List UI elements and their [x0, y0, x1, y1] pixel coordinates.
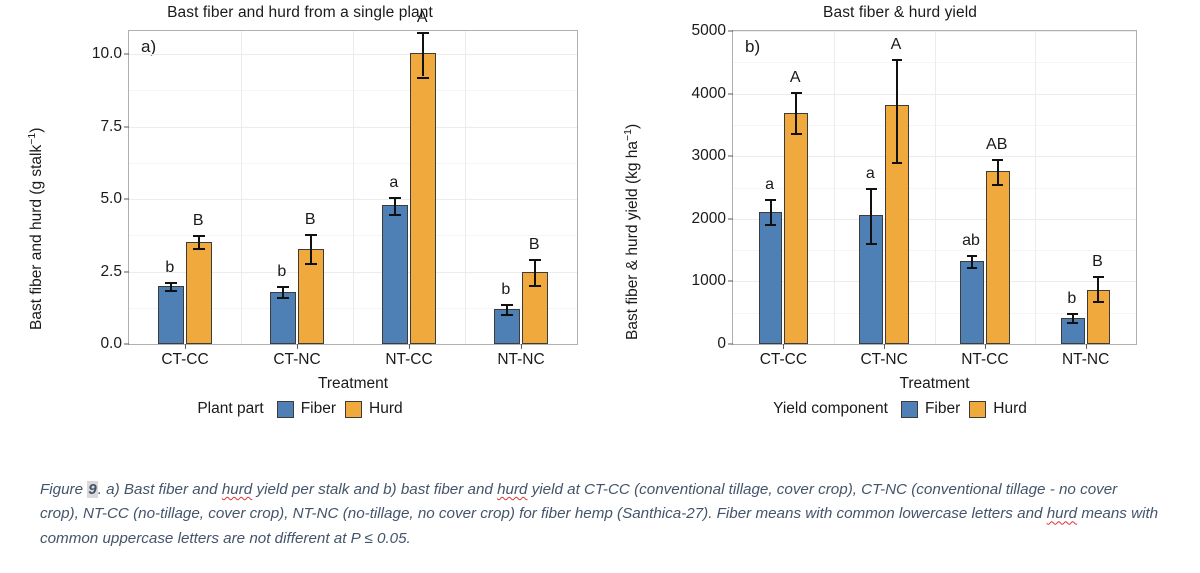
error-bar-cap-bottom: [529, 285, 541, 287]
caption-figure-word: Figure: [40, 481, 87, 498]
error-bar-cap-bottom: [967, 267, 978, 269]
significance-letter-nt-nc-fiber: b: [501, 281, 510, 299]
error-bar-cap-bottom: [193, 248, 205, 250]
significance-letter-nt-nc-hurd: B: [1092, 253, 1103, 271]
chart-title-a: Bast fiber and hurd from a single plant: [0, 4, 600, 22]
bar-ct-nc-fiber: [270, 292, 296, 344]
error-bar-cap-bottom: [277, 297, 289, 299]
x-axis-tick-mark: [185, 344, 186, 349]
caption-part1: . a) Bast fiber and: [98, 481, 222, 498]
x-axis-tick-mark: [783, 344, 784, 349]
error-bar-cap-top: [791, 92, 802, 94]
error-bar-cap-bottom: [305, 263, 317, 265]
error-bar-cap-top: [529, 259, 541, 261]
legend-label-fiber-b: Fiber: [925, 400, 960, 418]
significance-letter-ct-nc-hurd: A: [891, 36, 902, 54]
y-axis-tick-b: 3000: [692, 147, 733, 165]
vertical-gridline: [353, 31, 354, 344]
significance-letter-ct-cc-fiber: b: [165, 259, 174, 277]
legend-swatch-fiber-b: [901, 401, 918, 418]
error-bar-cap-top: [305, 234, 317, 236]
significance-letter-nt-cc-hurd: AB: [986, 136, 1007, 154]
x-axis-label-a: Treatment: [128, 375, 578, 393]
vertical-gridline: [1035, 31, 1036, 344]
legend-a: Plant part Fiber Hurd: [0, 400, 600, 418]
legend-title-a: Plant part: [197, 400, 263, 418]
error-bar-cap-bottom: [791, 133, 802, 135]
vertical-gridline: [241, 31, 242, 344]
legend-item-fiber-a[interactable]: Fiber: [277, 400, 336, 418]
error-bar-cap-bottom: [866, 243, 877, 245]
y-axis-label-a-sup: −1: [26, 133, 38, 145]
x-axis-label-b: Treatment: [732, 375, 1137, 393]
error-bar-cap-top: [165, 282, 177, 284]
significance-letter-nt-cc-fiber: ab: [962, 232, 980, 250]
significance-letter-nt-cc-hurd: A: [417, 9, 428, 27]
legend-swatch-hurd-a: [345, 401, 362, 418]
bar-nt-cc-fiber: [960, 261, 984, 344]
legend-b: Yield component Fiber Hurd: [600, 400, 1200, 418]
error-bar-cap-bottom: [765, 224, 776, 226]
error-bar-cap-top: [765, 199, 776, 201]
error-bar-line: [422, 32, 424, 76]
legend-title-b: Yield component: [773, 400, 888, 418]
caption-misspelled-hurd-1: hurd: [222, 481, 252, 498]
y-axis-tick-b: 1000: [692, 272, 733, 290]
significance-letter-nt-cc-fiber: a: [389, 174, 398, 192]
y-axis-label-b-text: Bast fiber & hurd yield (kg ha: [624, 141, 641, 340]
bar-ct-cc-hurd: [784, 113, 808, 344]
error-bar-cap-bottom: [1093, 301, 1104, 303]
error-bar-line: [997, 159, 999, 184]
caption-part2: yield per stalk and b) bast fiber and: [252, 481, 497, 498]
legend-swatch-fiber-a: [277, 401, 294, 418]
error-bar-line: [310, 234, 312, 263]
y-axis-label-a: Bast fiber and hurd (g stalk−1): [26, 128, 46, 330]
error-bar-cap-top: [277, 286, 289, 288]
bar-ct-cc-fiber: [158, 286, 184, 344]
x-axis-tick-mark: [521, 344, 522, 349]
error-bar-cap-bottom: [165, 290, 177, 292]
error-bar-cap-top: [892, 59, 903, 61]
panel-tag-b: b): [745, 37, 760, 57]
caption-misspelled-hurd-2: hurd: [497, 481, 527, 498]
significance-letter-ct-nc-fiber: b: [277, 263, 286, 281]
error-bar-cap-top: [193, 235, 205, 237]
significance-letter-ct-cc-hurd: B: [193, 212, 204, 230]
y-axis-label-b-suffix: ): [624, 124, 641, 129]
figure-panels: Bast fiber and hurd from a single plant …: [0, 0, 1200, 440]
x-axis-tick-label-nt-cc: NT-CC: [961, 351, 1008, 369]
error-bar-cap-bottom: [501, 314, 513, 316]
vertical-gridline: [465, 31, 466, 344]
x-axis-tick-label-nt-cc: NT-CC: [385, 351, 432, 369]
legend-item-fiber-b[interactable]: Fiber: [901, 400, 960, 418]
panel-b: Bast fiber & hurd yield Bast fiber & hur…: [600, 0, 1200, 440]
significance-letter-ct-cc-hurd: A: [790, 69, 801, 87]
x-axis-tick-mark: [409, 344, 410, 349]
x-axis-tick-mark: [1086, 344, 1087, 349]
x-axis-tick-label-nt-nc: NT-NC: [1062, 351, 1109, 369]
x-axis-tick-mark: [297, 344, 298, 349]
error-bar-cap-top: [1067, 313, 1078, 315]
error-bar-line: [795, 92, 797, 133]
legend-label-fiber-a: Fiber: [301, 400, 336, 418]
error-bar-cap-bottom: [892, 162, 903, 164]
y-axis-label-a-text: Bast fiber and hurd (g stalk: [28, 145, 45, 330]
vertical-gridline: [834, 31, 835, 344]
bar-nt-cc-fiber: [382, 205, 408, 344]
x-axis-tick-label-ct-nc: CT-NC: [273, 351, 320, 369]
y-axis-tick-a: 5.0: [100, 190, 129, 208]
x-axis-tick-label-ct-cc: CT-CC: [161, 351, 208, 369]
caption-misspelled-hurd-3: hurd: [1047, 505, 1077, 522]
bar-ct-cc-fiber: [759, 212, 783, 344]
bar-nt-cc-hurd: [986, 171, 1010, 344]
error-bar-cap-top: [1093, 276, 1104, 278]
figure-container: Bast fiber and hurd from a single plant …: [0, 0, 1200, 573]
x-axis-tick-mark: [884, 344, 885, 349]
y-axis-tick-b: 5000: [692, 22, 733, 40]
plot-area-a: a) 0.02.55.07.510.0CT-CCbBCT-NCbBNT-CCaA…: [128, 30, 578, 345]
significance-letter-nt-nc-fiber: b: [1067, 290, 1076, 308]
chart-title-b: Bast fiber & hurd yield: [600, 4, 1200, 22]
error-bar-cap-top: [417, 32, 429, 34]
y-axis-tick-b: 0: [717, 335, 733, 353]
error-bar-cap-top: [967, 255, 978, 257]
y-axis-tick-a: 0.0: [100, 335, 129, 353]
y-axis-tick-b: 2000: [692, 210, 733, 228]
error-bar-line: [896, 59, 898, 162]
error-bar-cap-bottom: [389, 214, 401, 216]
legend-item-hurd-a[interactable]: Hurd: [345, 400, 403, 418]
caption-figure-number: 9: [87, 481, 97, 498]
legend-label-hurd-b: Hurd: [993, 400, 1027, 418]
error-bar-cap-bottom: [992, 184, 1003, 186]
error-bar-line: [770, 199, 772, 225]
bar-nt-cc-hurd: [410, 53, 436, 344]
legend-label-hurd-a: Hurd: [369, 400, 403, 418]
error-bar-line: [1097, 276, 1099, 301]
figure-caption: Figure 9. a) Bast fiber and hurd yield p…: [40, 478, 1160, 551]
error-bar-cap-bottom: [417, 77, 429, 79]
y-axis-tick-b: 4000: [692, 85, 733, 103]
plot-area-b: b) 010002000300040005000CT-CCaACT-NCaANT…: [732, 30, 1137, 345]
error-bar-cap-top: [389, 197, 401, 199]
significance-letter-nt-nc-hurd: B: [529, 236, 540, 254]
error-bar-line: [534, 259, 536, 286]
significance-letter-ct-nc-fiber: a: [866, 165, 875, 183]
x-axis-tick-label-nt-nc: NT-NC: [497, 351, 544, 369]
error-bar-line: [870, 188, 872, 243]
legend-swatch-hurd-b: [969, 401, 986, 418]
vertical-gridline: [935, 31, 936, 344]
y-axis-label-b-sup: −1: [622, 129, 634, 141]
error-bar-cap-top: [992, 159, 1003, 161]
error-bar-cap-top: [501, 304, 513, 306]
error-bar-line: [394, 197, 396, 214]
x-axis-tick-label-ct-nc: CT-NC: [860, 351, 907, 369]
error-bar-cap-bottom: [1067, 322, 1078, 324]
bar-ct-cc-hurd: [186, 242, 212, 344]
x-axis-tick-mark: [985, 344, 986, 349]
legend-item-hurd-b[interactable]: Hurd: [969, 400, 1027, 418]
y-axis-tick-a: 7.5: [100, 118, 129, 136]
error-bar-cap-top: [866, 188, 877, 190]
y-axis-tick-a: 10.0: [92, 45, 129, 63]
x-axis-tick-label-ct-cc: CT-CC: [760, 351, 807, 369]
y-axis-tick-a: 2.5: [100, 263, 129, 281]
panel-a: Bast fiber and hurd from a single plant …: [0, 0, 600, 440]
significance-letter-ct-nc-hurd: B: [305, 211, 316, 229]
significance-letter-ct-cc-fiber: a: [765, 176, 774, 194]
y-axis-label-b: Bast fiber & hurd yield (kg ha−1): [622, 124, 642, 340]
y-axis-label-a-suffix: ): [28, 128, 45, 133]
